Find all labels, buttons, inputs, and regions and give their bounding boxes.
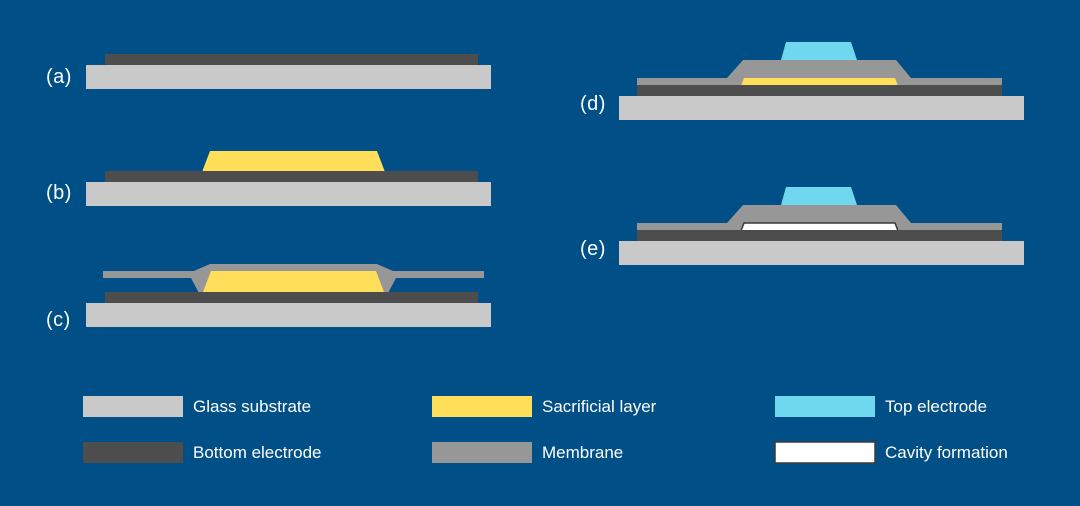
legend-label-membrane: Membrane <box>542 443 623 462</box>
panel-b-glass-substrate <box>86 182 491 206</box>
legend-item-bottom-electrode: Bottom electrode <box>83 442 322 463</box>
legend-label-sacrificial-layer: Sacrificial layer <box>542 397 657 416</box>
legend-label-bottom-electrode: Bottom electrode <box>193 443 322 462</box>
panel-c-sacrificial-layer <box>203 271 384 292</box>
legend-swatch-top-electrode <box>775 396 875 417</box>
panel-a: (a) <box>46 54 491 89</box>
panel-c: (c) <box>46 264 491 331</box>
legend-swatch-cavity-formation <box>775 442 875 463</box>
panel-e-label: (e) <box>580 238 606 260</box>
legend-swatch-membrane <box>432 442 532 463</box>
legend-swatch-sacrificial-layer <box>432 396 532 417</box>
panel-c-bottom-electrode <box>105 292 478 303</box>
legend-label-cavity-formation: Cavity formation <box>885 443 1008 462</box>
process-flow-figure: (a) (b) (c) <box>0 0 1080 506</box>
legend-swatch-glass-substrate <box>83 396 183 417</box>
legend-item-sacrificial-layer: Sacrificial layer <box>432 396 657 417</box>
panel-d-bottom-electrode <box>637 85 1002 96</box>
legend-item-membrane: Membrane <box>432 442 623 463</box>
panel-e-bottom-electrode <box>637 230 1002 241</box>
figure-canvas: (a) (b) (c) <box>0 0 1080 506</box>
panel-d-label: (d) <box>580 93 606 115</box>
legend-item-glass-substrate: Glass substrate <box>83 396 311 417</box>
legend-label-top-electrode: Top electrode <box>885 397 987 416</box>
legend-swatch-bottom-electrode <box>83 442 183 463</box>
panel-a-bottom-electrode <box>105 54 478 65</box>
panel-d-glass-substrate <box>619 96 1024 120</box>
panel-d-top-electrode <box>781 42 857 60</box>
panel-b-label: (b) <box>46 182 72 204</box>
panel-c-glass-substrate <box>86 303 491 327</box>
panel-c-label: (c) <box>46 309 71 331</box>
panel-a-label: (a) <box>46 66 72 88</box>
panel-e-top-electrode <box>781 187 857 205</box>
legend-label-glass-substrate: Glass substrate <box>193 397 311 416</box>
panel-b-bottom-electrode <box>105 171 478 182</box>
panel-e-glass-substrate <box>619 241 1024 265</box>
panel-b-sacrificial-layer <box>202 151 385 172</box>
panel-a-glass-substrate <box>86 65 491 89</box>
legend-item-cavity-formation: Cavity formation <box>775 442 1008 463</box>
